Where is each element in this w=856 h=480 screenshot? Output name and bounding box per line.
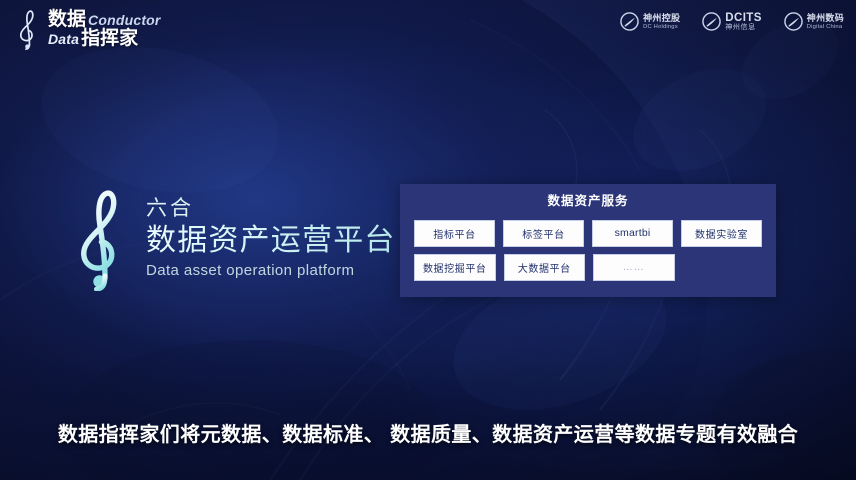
partner-name-cn: DCITS xyxy=(725,12,762,24)
partner-text: 神州控股 DC Holdings xyxy=(643,14,680,30)
swirl-mark-icon xyxy=(784,12,803,31)
product-kicker: 六合 xyxy=(146,196,396,222)
partner-logo-dcits: DCITS 神州信息 xyxy=(702,12,762,32)
bottom-caption: 数据指挥家们将元数据、数据标准、 数据质量、数据资产运营等数据专题有效融合 xyxy=(0,418,856,447)
header-bar: 数据 Conductor Data 指挥家 神州控股 xyxy=(0,0,856,56)
swirl-mark-icon xyxy=(702,12,721,31)
service-tile-shuju-wajue-pingtai[interactable]: 数据挖掘平台 xyxy=(414,254,496,281)
treble-clef-icon xyxy=(14,8,44,50)
treble-clef-icon xyxy=(72,186,134,291)
partner-name-en: DC Holdings xyxy=(643,24,680,30)
swirl-mark-icon xyxy=(620,12,639,31)
partner-text: 神州数码 Digital China xyxy=(807,14,844,30)
partner-logo-group: 神州控股 DC Holdings DCITS 神州信息 xyxy=(620,12,844,32)
brand-line1-cn: 数据 xyxy=(48,10,86,29)
brand-line2-en: Data xyxy=(48,32,79,46)
brand-line1-en: Conductor xyxy=(88,13,161,27)
service-tile-empty-slot xyxy=(683,254,763,281)
partner-text: DCITS 神州信息 xyxy=(725,12,762,32)
service-tile-row-1: 指标平台 标签平台 smartbi 数据实验室 xyxy=(414,220,762,247)
product-title: 数据资产运营平台 xyxy=(146,223,396,259)
service-tile-biaoqian-pingtai[interactable]: 标签平台 xyxy=(503,220,584,247)
partner-name-cn: 神州数码 xyxy=(807,14,844,24)
service-tile-smartbi[interactable]: smartbi xyxy=(592,220,673,247)
partner-logo-dc-holdings: 神州控股 DC Holdings xyxy=(620,12,680,31)
brand-line2-cn: 指挥家 xyxy=(81,29,138,48)
brand-line-1: 数据 Conductor xyxy=(48,10,161,29)
product-wordmark: 六合 数据资产运营平台 Data asset operation platfor… xyxy=(146,196,396,281)
partner-name-en: 神州信息 xyxy=(725,24,762,32)
partner-logo-digital-china: 神州数码 Digital China xyxy=(784,12,844,31)
slide-canvas: 数据 Conductor Data 指挥家 神州控股 xyxy=(0,0,856,480)
service-panel-title: 数据资产服务 xyxy=(414,193,762,211)
service-tile-more[interactable]: …… xyxy=(593,254,675,281)
service-tile-dashuju-pingtai[interactable]: 大数据平台 xyxy=(504,254,586,281)
product-lockup: 六合 数据资产运营平台 Data asset operation platfor… xyxy=(72,186,396,291)
partner-name-cn: 神州控股 xyxy=(643,14,680,24)
brand-logo: 数据 Conductor Data 指挥家 xyxy=(14,8,161,50)
service-tile-shuju-shiyanshi[interactable]: 数据实验室 xyxy=(681,220,762,247)
brand-wordmark: 数据 Conductor Data 指挥家 xyxy=(48,10,161,48)
service-tile-zhibiao-pingtai[interactable]: 指标平台 xyxy=(414,220,495,247)
brand-line-2: Data 指挥家 xyxy=(48,29,161,48)
product-subtitle: Data asset operation platform xyxy=(146,261,396,281)
data-asset-service-panel: 数据资产服务 指标平台 标签平台 smartbi 数据实验室 数据挖掘平台 大数… xyxy=(400,184,776,297)
partner-name-en: Digital China xyxy=(807,24,844,30)
service-tile-row-2: 数据挖掘平台 大数据平台 …… xyxy=(414,254,762,281)
